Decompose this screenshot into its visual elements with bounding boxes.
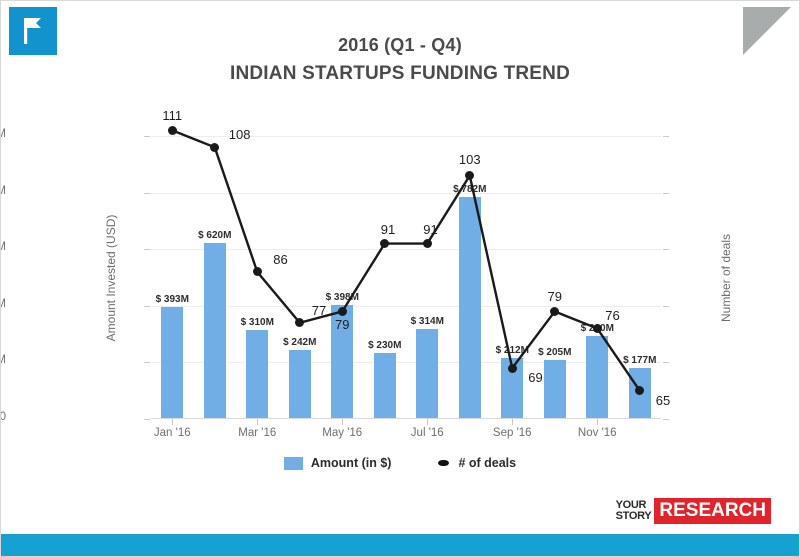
legend-swatch-icon <box>284 457 303 470</box>
y-axis-tick-mark-right <box>663 193 669 194</box>
x-axis-tick-label: Mar '16 <box>238 427 276 439</box>
line-value-label: 111 <box>162 108 182 123</box>
x-axis-tick-label: Sep '16 <box>493 427 532 439</box>
x-axis-tick-mark <box>257 419 258 425</box>
legend-marker-icon <box>437 457 450 470</box>
y-axis-tick-mark-right <box>663 419 669 420</box>
legend-label-deals: # of deals <box>458 456 516 470</box>
line-data-point[interactable] <box>423 239 432 248</box>
x-axis-tick-mark <box>597 419 598 425</box>
line-value-label: 86 <box>273 252 287 267</box>
x-axis-tick-label: May '16 <box>322 427 362 439</box>
legend-item-deals[interactable]: # of deals <box>437 456 516 470</box>
bottom-accent-bar <box>1 534 799 556</box>
line-value-label: 65 <box>656 393 670 408</box>
line-value-label: 79 <box>335 317 349 332</box>
legend-item-amount[interactable]: Amount (in $) <box>284 456 392 470</box>
x-axis-tick-mark <box>427 419 428 425</box>
yourstory-wordmark: YOUR STORY <box>616 498 655 524</box>
y-axis-tick-left: 400M <box>0 298 6 310</box>
line-value-label: 69 <box>528 370 542 385</box>
y-axis-label-left: Amount Invested (USD) <box>104 214 118 341</box>
chart-title-line1: 2016 (Q1 - Q4) <box>338 35 462 55</box>
y-axis-tick-mark-left <box>144 306 150 307</box>
y-axis-tick-left: 800M <box>0 185 6 197</box>
y-axis-tick-mark-right <box>663 362 669 363</box>
slide-canvas: 2016 (Q1 - Q4) INDIAN STARTUPS FUNDING T… <box>0 0 800 557</box>
line-data-point[interactable] <box>168 126 177 135</box>
y-axis-tick-mark-left <box>144 419 150 420</box>
y-axis-tick-left: 200M <box>0 354 6 366</box>
y-axis-tick-mark-left <box>144 193 150 194</box>
chart-title-line2: INDIAN STARTUPS FUNDING TREND <box>1 63 799 85</box>
line-data-point[interactable] <box>508 364 517 373</box>
line-data-point[interactable] <box>338 307 347 316</box>
y-axis-tick-mark-left <box>144 136 150 137</box>
y-axis-tick-mark-left <box>144 249 150 250</box>
y-axis-tick-mark-left <box>144 362 150 363</box>
plot-area: Amount Invested (USD) Number of deals 02… <box>151 136 661 419</box>
logo-text-story: STORY <box>616 511 652 522</box>
line-value-label: 108 <box>229 127 251 142</box>
y-axis-tick-left: 1 000M <box>0 128 6 140</box>
x-axis-tick-mark <box>172 419 173 425</box>
y-axis-label-right: Number of deals <box>719 233 733 321</box>
line-data-point[interactable] <box>593 324 602 333</box>
x-axis-tick-mark <box>342 419 343 425</box>
line-value-label: 91 <box>381 222 395 237</box>
x-axis-tick-label: Nov '16 <box>578 427 617 439</box>
line-value-label: 76 <box>605 308 619 323</box>
line-value-label: 77 <box>312 303 326 318</box>
deals-line-series <box>151 136 661 419</box>
y-axis-tick-mark-right <box>663 249 669 250</box>
x-axis-tick-label: Jan '16 <box>154 427 191 439</box>
line-value-label: 91 <box>423 222 437 237</box>
y-axis-tick-left: 0 <box>0 411 6 423</box>
x-axis-tick-label: Jul '16 <box>411 427 444 439</box>
x-axis-tick-mark <box>512 419 513 425</box>
y-axis-tick-mark-right <box>663 306 669 307</box>
yourstory-research-logo: YOUR STORY RESEARCH <box>616 498 771 524</box>
legend-label-amount: Amount (in $) <box>311 456 392 470</box>
chart-title: 2016 (Q1 - Q4) INDIAN STARTUPS FUNDING T… <box>1 35 799 85</box>
logo-text-research: RESEARCH <box>654 498 771 524</box>
chart-legend: Amount (in $) # of deals <box>1 456 799 470</box>
y-axis-tick-left: 600M <box>0 241 6 253</box>
y-axis-tick-mark-right <box>663 136 669 137</box>
line-value-label: 79 <box>548 289 562 304</box>
line-value-label: 103 <box>459 152 481 167</box>
line-data-point[interactable] <box>210 143 219 152</box>
